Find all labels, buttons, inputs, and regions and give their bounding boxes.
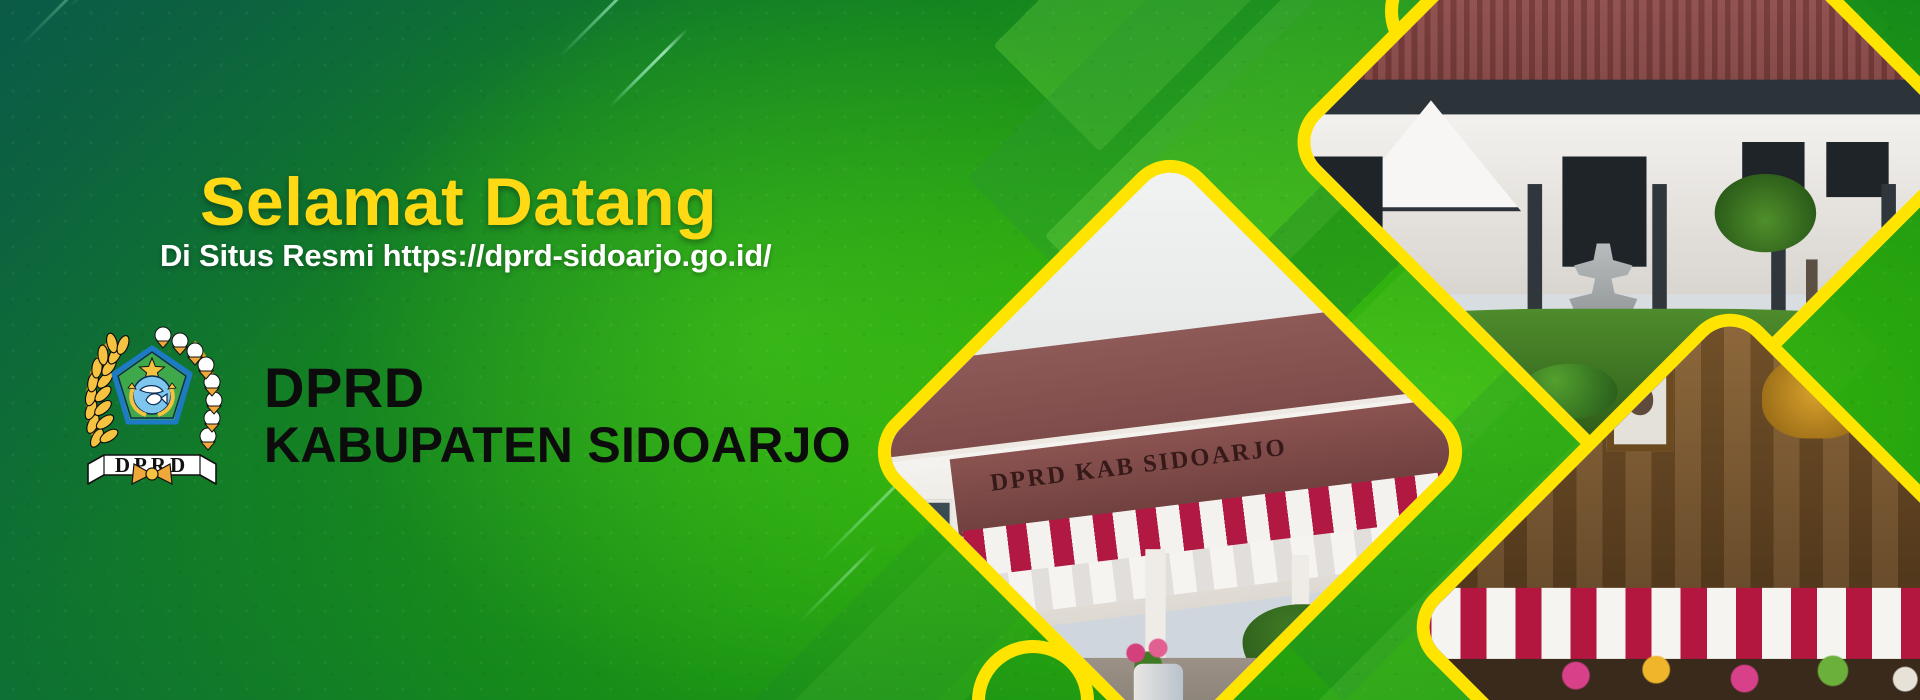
dprd-sidoarjo-emblem-icon: DPRD: [62, 312, 242, 492]
organization-name-block: DPRD KABUPATEN SIDOARJO: [264, 331, 851, 472]
organization-identity: DPRD DPRD KABUPATEN SIDOARJO: [62, 312, 851, 492]
org-name-line-1: DPRD: [264, 359, 851, 416]
page-title: Selamat Datang: [200, 168, 717, 236]
welcome-banner: DPRD KAB SIDOARJO Selamat Datang Di Situ…: [0, 0, 1920, 700]
org-name-line-2: KABUPATEN SIDOARJO: [264, 417, 851, 473]
site-url-subtitle: Di Situs Resmi https://dprd-sidoarjo.go.…: [160, 238, 771, 274]
